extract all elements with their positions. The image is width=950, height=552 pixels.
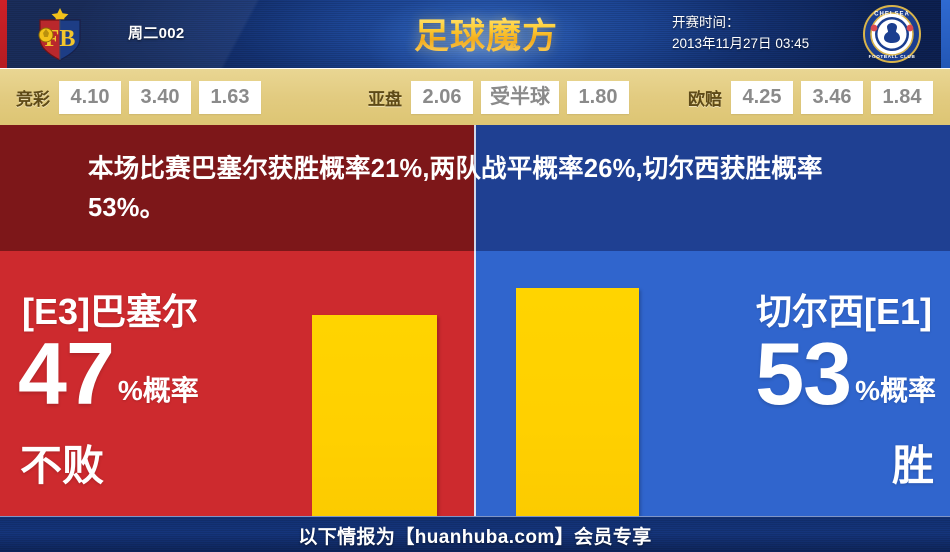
- home-probability-bar: [312, 315, 437, 516]
- odds-group-yapan: 亚盘 2.06 受半球 1.80: [368, 81, 629, 114]
- kickoff-time: 开赛时间： 2013年11月27日 03:45: [672, 12, 809, 54]
- svg-text:FOOTBALL CLUB: FOOTBALL CLUB: [869, 54, 916, 59]
- odds-jingcai-away[interactable]: 1.63: [199, 81, 261, 114]
- odds-label-oupei: 欧赔: [688, 85, 722, 110]
- away-outcome-label: 胜: [892, 432, 934, 493]
- away-team-panel: 切尔西[E1] 53 %概率 胜: [475, 251, 950, 516]
- odds-label-yapan: 亚盘: [368, 85, 402, 110]
- away-probability-suffix: %概率: [855, 369, 936, 409]
- odds-group-oupei: 欧赔 4.25 3.46 1.84: [688, 81, 933, 114]
- summary-banner: 本场比赛巴塞尔获胜概率21%,两队战平概率26%,切尔西获胜概率53%。: [0, 125, 950, 251]
- odds-jingcai-home[interactable]: 4.10: [59, 81, 121, 114]
- footer-bar: 以下情报为【huanhuba.com】会员专享: [0, 516, 950, 552]
- odds-oupei-home[interactable]: 4.25: [731, 81, 793, 114]
- odds-yapan-away[interactable]: 1.80: [567, 81, 629, 114]
- header-blue-edge: [941, 0, 950, 68]
- kickoff-value: 2013年11月27日 03:45: [672, 33, 809, 54]
- home-outcome-label: 不败: [20, 432, 104, 493]
- chelsea-crest-icon: CHELSEA FOOTBALL CLUB: [862, 4, 922, 64]
- odds-oupei-draw[interactable]: 3.46: [801, 81, 863, 114]
- home-probability-suffix: %概率: [118, 369, 199, 409]
- match-number: 周二002: [128, 22, 185, 43]
- home-probability-value: 47: [18, 331, 114, 417]
- away-probability-value: 53: [755, 331, 851, 417]
- footer-text: 以下情报为【huanhuba.com】会员专享: [298, 522, 651, 549]
- odds-jingcai-draw[interactable]: 3.40: [129, 81, 191, 114]
- match-preview-graphic: FB 周二002 足球魔方 足球魔方 开赛时间： 2013年11月27日 03:…: [0, 0, 950, 552]
- home-probability: 47 %概率: [18, 331, 199, 417]
- odds-group-jingcai: 竞彩 4.10 3.40 1.63: [16, 81, 261, 114]
- basel-crest-icon: FB: [28, 4, 92, 64]
- odds-label-jingcai: 竞彩: [16, 85, 50, 110]
- odds-yapan-home[interactable]: 2.06: [411, 81, 473, 114]
- brand-logo: 足球魔方: [414, 8, 558, 59]
- away-probability-bar: [516, 288, 639, 516]
- odds-bar: 竞彩 4.10 3.40 1.63 亚盘 2.06 受半球 1.80 欧赔 4.…: [0, 68, 950, 126]
- odds-oupei-away[interactable]: 1.84: [871, 81, 933, 114]
- header-bar: FB 周二002 足球魔方 足球魔方 开赛时间： 2013年11月27日 03:…: [0, 0, 950, 68]
- panel-divider: [474, 251, 476, 516]
- home-team-panel: [E3]巴塞尔 47 %概率 不败: [0, 251, 475, 516]
- kickoff-label: 开赛时间：: [672, 12, 809, 33]
- svg-text:CHELSEA: CHELSEA: [874, 12, 910, 18]
- away-probability: 53 %概率: [755, 331, 936, 417]
- probability-chart: [E3]巴塞尔 47 %概率 不败 切尔西[E1] 53 %概率 胜: [0, 251, 950, 516]
- header-red-edge: [0, 0, 7, 68]
- summary-text: 本场比赛巴塞尔获胜概率21%,两队战平概率26%,切尔西获胜概率53%。: [88, 150, 868, 228]
- odds-yapan-handicap[interactable]: 受半球: [481, 81, 559, 114]
